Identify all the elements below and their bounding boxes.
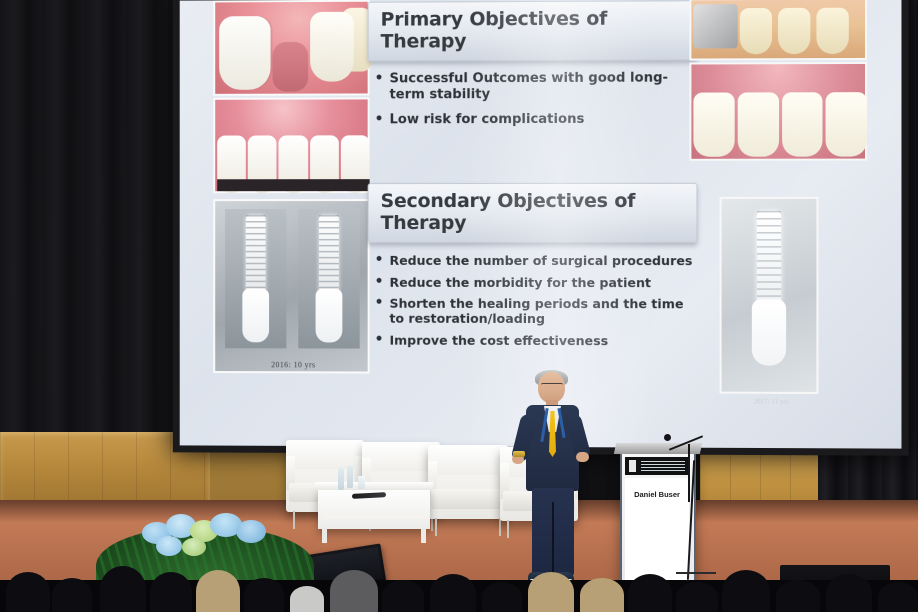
microphone-icon (664, 434, 671, 441)
audience-head (878, 582, 918, 612)
clinical-photo-missing-tooth (213, 0, 369, 96)
conference-logo (625, 457, 689, 475)
secondary-objectives-heading-text: Secondary Objectives of Therapy (381, 190, 636, 234)
eyeglasses-icon (541, 383, 563, 389)
audience-head (722, 570, 770, 612)
water-bottle (347, 466, 353, 488)
water-bottle (338, 468, 344, 490)
presentation-clicker (513, 451, 525, 457)
implant-fixture-icon (319, 215, 339, 293)
audience-head (244, 578, 284, 612)
implant-crown (242, 289, 269, 343)
trousers (532, 488, 574, 576)
tooth (740, 8, 772, 54)
slide-text-column: Primary Objectives of Therapy Successful… (368, 0, 698, 354)
radiograph-caption: 2017: 11 yrs (722, 398, 821, 406)
implant-fixture-icon (246, 215, 266, 293)
tooth-row (693, 92, 867, 157)
speaker-name-text: Daniel Buser (634, 490, 680, 499)
surgical-clamp-icon (693, 4, 737, 48)
radiograph-single-implant: 2017: 11 yrs (720, 197, 819, 394)
slide-right-image-column: 2017: 11 yrs (689, 0, 867, 410)
primary-objectives-heading-text: Primary Objectives of Therapy (381, 8, 608, 53)
audience-head (628, 574, 672, 612)
bullet-item: Reduce the morbidity for the patient (372, 274, 698, 296)
clinical-photo-restored-teeth (213, 97, 369, 193)
clinical-photo-implant-placement (689, 0, 867, 61)
microphone-stand (688, 444, 690, 502)
audience-head (482, 582, 522, 612)
bullet-item: Improve the cost effectiveness (372, 332, 698, 354)
secondary-objectives-bullets: Reduce the number of surgical procedures… (372, 253, 698, 354)
radiograph-left (225, 209, 286, 348)
drinking-glass (358, 476, 365, 489)
bullet-item: Reduce the number of surgical procedures (372, 253, 698, 275)
radiograph-pair-implants: 2016: 10 yrs (213, 199, 369, 373)
implant-crown (316, 289, 343, 343)
lectern-base (676, 572, 716, 574)
audience-head (826, 574, 872, 612)
audience-head (528, 572, 574, 612)
audience-head (676, 582, 718, 612)
armchair (428, 445, 508, 519)
section-spacer (368, 137, 698, 181)
edentulous-gap (273, 42, 309, 92)
presenter (512, 372, 592, 600)
tooth (816, 8, 848, 54)
secondary-objectives-heading: Secondary Objectives of Therapy (368, 183, 698, 243)
audience-head (382, 580, 424, 612)
clinical-photo-final-restoration (689, 62, 867, 161)
implant-fixture-icon (757, 211, 781, 307)
right-hand (576, 452, 589, 462)
audience-head (330, 570, 378, 612)
oral-shadow (217, 179, 369, 191)
audience-head (580, 578, 624, 612)
audience-head (150, 572, 192, 612)
conference-stage-photo: 2016: 10 yrs Primary Objectives of Thera… (0, 0, 918, 612)
primary-objectives-heading: Primary Objectives of Therapy (368, 0, 698, 61)
audience-head (196, 570, 240, 612)
audience-head (290, 586, 324, 612)
audience-head (52, 578, 92, 612)
bullet-item: Low risk for complications (372, 112, 698, 138)
bullet-item: Successful Outcomes with good long-term … (372, 71, 698, 113)
audience-head (776, 580, 820, 612)
primary-objectives-bullets: Successful Outcomes with good long-term … (372, 71, 698, 138)
blue-hydrangea-arrangement (140, 512, 270, 556)
audience-head (6, 572, 50, 612)
implant-crown (752, 299, 786, 365)
tooth (778, 8, 810, 54)
radiograph-right (298, 209, 359, 349)
bullet-item: Shorten the healing periods and the time… (372, 296, 698, 333)
audience-head (100, 566, 146, 612)
radiograph-caption: 2016: 10 yrs (215, 360, 371, 369)
audience-head (430, 574, 476, 612)
slide-left-image-column: 2016: 10 yrs (213, 0, 369, 398)
